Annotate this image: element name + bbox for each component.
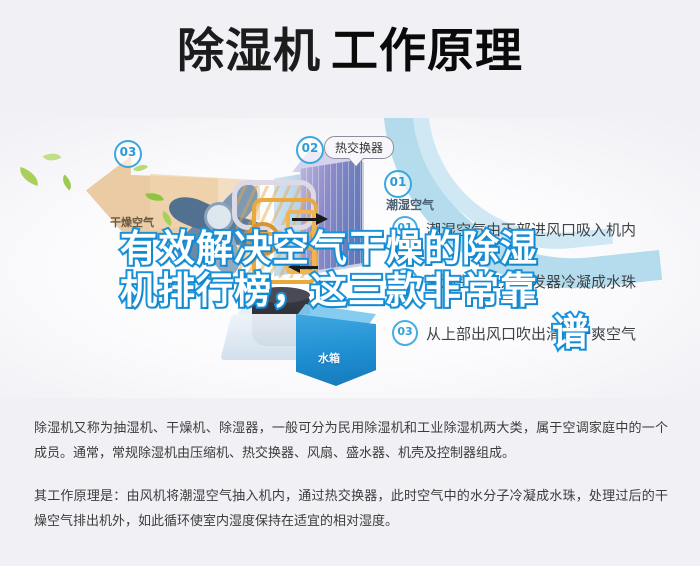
copper-loop-icon (246, 222, 280, 256)
title-text: 除湿机工作原理 (177, 28, 523, 75)
legend-badge-01: 01 (392, 216, 418, 242)
legend-item: 01 潮湿空气由下部进风口吸入机内 (392, 216, 692, 242)
title-part-1: 除湿机 (177, 24, 321, 79)
airflow-arrow-right-icon (316, 213, 328, 225)
dry-air-label: 干燥空气 (110, 214, 154, 230)
page-title: 除湿机工作原理 (0, 28, 700, 75)
article-body: 除湿机又称为抽湿机、干燥机、除湿器，一般可分为民用除湿机和工业除湿机两大类，属于… (34, 416, 668, 552)
water-tank-label: 水箱 (318, 350, 340, 366)
article-paragraph-1: 除湿机又称为抽湿机、干燥机、除湿器，一般可分为民用除湿机和工业除湿机两大类，属于… (34, 416, 668, 466)
page-root: 除湿机工作原理 干燥空气 (0, 0, 700, 566)
legend-text-03: 从上部出风口吹出清新干爽空气 (426, 323, 636, 344)
legend-badge-03: 03 (392, 320, 418, 346)
legend-item: 02 潮湿空气经过蒸发器冷凝成水珠 (392, 268, 692, 294)
article-paragraph-2: 其工作原理是：由风机将潮湿空气抽入机内，通过热交换器，此时空气中的水分子冷凝成水… (34, 484, 668, 534)
callout-badge-01: 01 (384, 170, 412, 198)
legend-badge-02: 02 (392, 268, 418, 294)
airflow-arrow-line (292, 218, 318, 221)
airflow-arrow-left-icon (288, 261, 300, 273)
dehumidifier-diagram: 干燥空气 水箱 (0, 118, 700, 398)
title-part-2: 工作原理 (331, 24, 523, 79)
heat-exchanger-callout-bubble: 热交换器 (324, 136, 394, 159)
humid-air-label: 潮湿空气 (386, 196, 434, 213)
callout-badge-03: 03 (114, 140, 142, 168)
legend-text-01: 潮湿空气由下部进风口吸入机内 (426, 219, 636, 240)
diagram-legend: 01 潮湿空气由下部进风口吸入机内 02 潮湿空气经过蒸发器冷凝成水珠 03 从… (392, 216, 692, 372)
callout-badge-02: 02 (296, 136, 324, 164)
fan-hub-icon (204, 202, 234, 232)
legend-item: 03 从上部出风口吹出清新干爽空气 (392, 320, 692, 346)
legend-text-02: 潮湿空气经过蒸发器冷凝成水珠 (426, 271, 636, 292)
